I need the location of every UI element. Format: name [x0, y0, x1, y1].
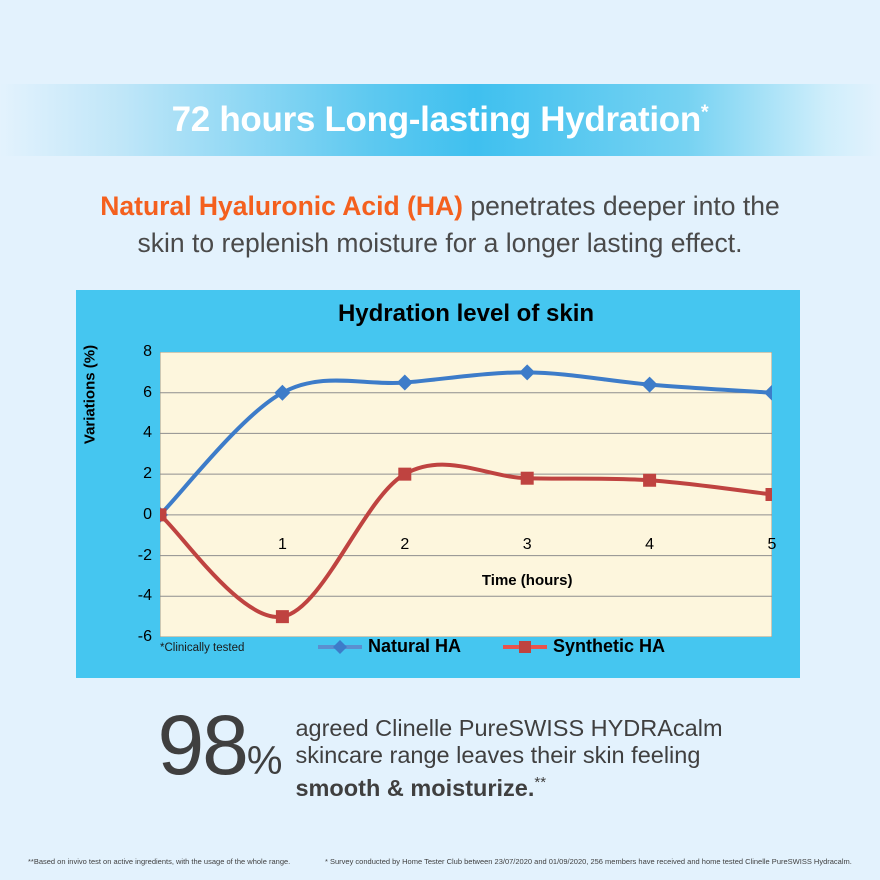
y-tick-label: 6 [112, 384, 152, 402]
footnote-right: * Survey conducted by Home Tester Club b… [325, 857, 852, 866]
x-tick-label: 2 [400, 536, 409, 554]
y-axis-label: Variations (%) [82, 325, 99, 465]
subtitle-highlight: Natural Hyaluronic Acid (HA) [100, 191, 463, 221]
legend-swatch-square-icon [501, 637, 549, 657]
y-tick-label: 4 [112, 424, 152, 442]
chart-note: *Clinically tested [160, 642, 244, 654]
claim-text-bold: smooth & moisturize. [295, 775, 534, 801]
series-marker [521, 472, 534, 485]
x-tick-label: 3 [523, 536, 532, 554]
claim-text-line-2: skincare range leaves their skin feeling [295, 742, 722, 769]
series-marker [766, 488, 773, 501]
claim-text-line-1: agreed Clinelle PureSWISS HYDRAcalm [295, 715, 722, 742]
plot-area: 86420-2-4-6 12345 Time (hours) [160, 352, 772, 637]
y-tick-label: -2 [112, 547, 152, 565]
y-tick-label: -6 [112, 628, 152, 646]
subtitle-line-1: Natural Hyaluronic Acid (HA) penetrates … [0, 188, 880, 225]
chart-svg [160, 352, 772, 637]
claim-text-line-3: smooth & moisturize.** [295, 769, 722, 802]
claim-number: 98% [157, 702, 281, 804]
claim-text: agreed Clinelle PureSWISS HYDRAcalm skin… [295, 706, 722, 802]
y-tick-label: 0 [112, 506, 152, 524]
claim-text-asterisks: ** [534, 774, 546, 791]
legend-label-natural: Natural HA [368, 636, 461, 657]
x-tick-label: 5 [768, 536, 777, 554]
series-marker [398, 468, 411, 481]
series-marker [160, 508, 167, 521]
claim-number-value: 98 [157, 702, 246, 788]
x-tick-label: 1 [278, 536, 287, 554]
y-tick-label: 2 [112, 465, 152, 483]
plot-background [160, 352, 772, 637]
subtitle-block: Natural Hyaluronic Acid (HA) penetrates … [0, 188, 880, 262]
footnote-left: **Based on invivo test on active ingredi… [28, 857, 290, 866]
header-banner: 72 hours Long-lasting Hydration* [0, 84, 880, 156]
legend-item-natural: Natural HA [316, 636, 461, 657]
legend-item-synthetic: Synthetic HA [501, 636, 665, 657]
x-tick-label: 4 [645, 536, 654, 554]
x-axis-label: Time (hours) [482, 572, 573, 589]
legend-swatch-diamond-icon [316, 637, 364, 657]
subtitle-rest: penetrates deeper into the [463, 191, 780, 221]
y-tick-label: 8 [112, 343, 152, 361]
legend-label-synthetic: Synthetic HA [553, 636, 665, 657]
chart-panel: Hydration level of skin Variations (%) 8… [76, 290, 800, 678]
chart-title: Hydration level of skin [160, 300, 772, 328]
claim-block: 98% agreed Clinelle PureSWISS HYDRAcalm … [0, 706, 880, 804]
page-title-asterisk: * [701, 101, 708, 123]
page-title-text: 72 hours Long-lasting Hydration [172, 100, 701, 139]
claim-percent-sign: % [247, 718, 282, 804]
series-marker [276, 610, 289, 623]
series-marker [643, 474, 656, 487]
chart-legend: Natural HA Synthetic HA [316, 636, 665, 657]
subtitle-line-2: skin to replenish moisture for a longer … [0, 225, 880, 262]
y-tick-label: -4 [112, 587, 152, 605]
page-title: 72 hours Long-lasting Hydration* [172, 100, 709, 140]
